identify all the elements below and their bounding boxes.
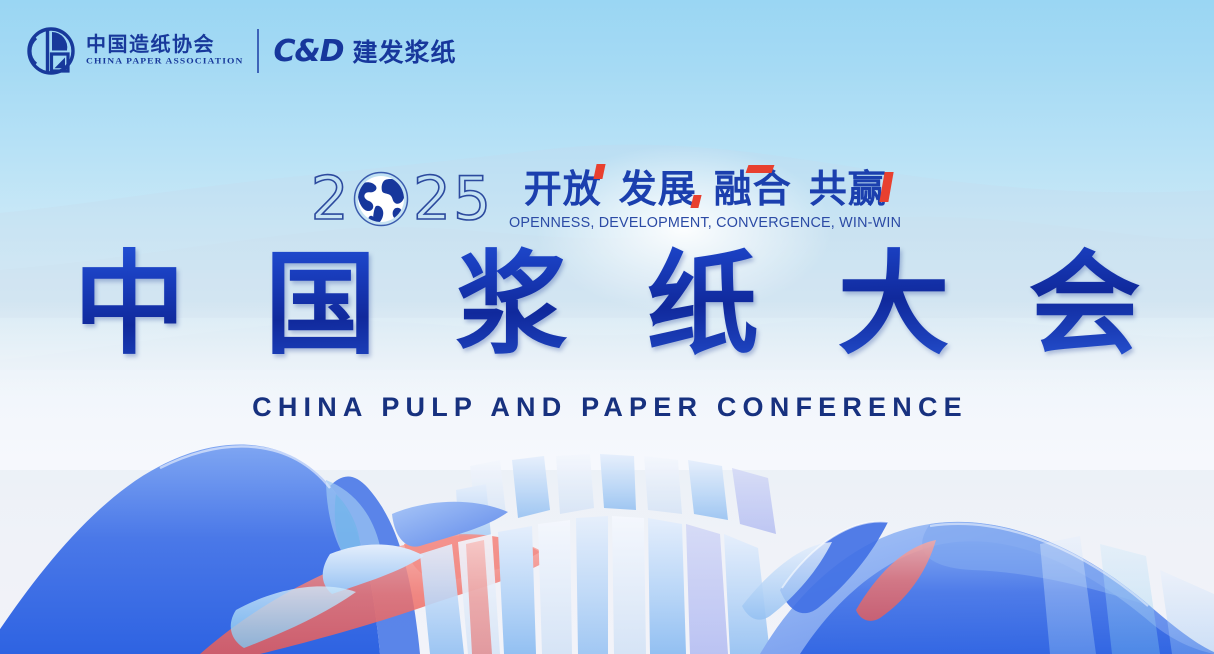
red-accent-3-icon: [745, 165, 774, 173]
year-2025-block: 2 2 5: [311, 168, 492, 230]
year-digit-5: 5: [453, 170, 491, 228]
slogan-word-2-text: 发展: [619, 167, 697, 211]
year-and-slogan-row: 2 2 5 开放: [0, 168, 1214, 231]
3d-ribbon-waves-icon: [0, 394, 1214, 654]
year-digit-2b: 2: [413, 170, 451, 228]
slogan-word-3-text: 融合: [714, 167, 792, 211]
cd-pulp-paper-logo[interactable]: C&D 建发浆纸: [273, 33, 456, 69]
page-subtitle: CHINA PULP AND PAPER CONFERENCE: [0, 392, 1214, 423]
slogan-word-4: 共赢: [809, 168, 887, 210]
cpa-text-block: 中国造纸协会 CHINA PAPER ASSOCIATION: [86, 34, 243, 68]
cpa-name-cn: 中国造纸协会: [86, 34, 243, 54]
cpa-name-en: CHINA PAPER ASSOCIATION: [86, 58, 243, 67]
conference-banner: 中国造纸协会 CHINA PAPER ASSOCIATION C&D 建发浆纸 …: [0, 0, 1214, 654]
globe-americas-icon: [352, 170, 410, 228]
slogan-word-1-text: 开放: [524, 167, 602, 211]
cd-name-cn: 建发浆纸: [353, 33, 457, 69]
vertical-divider-icon: [257, 29, 259, 73]
year-digit-2: 2: [311, 170, 349, 228]
red-accent-1-icon: [593, 164, 605, 179]
slogan-english: OPENNESS, DEVELOPMENT, CONVERGENCE, WIN-…: [509, 215, 901, 231]
slogan-word-4-text: 共赢: [809, 167, 887, 211]
cpa-circle-emblem-icon: [26, 26, 76, 76]
slogan-word-2: 发展: [619, 168, 697, 210]
slogan-word-1: 开放: [524, 168, 602, 210]
page-title: 中 国 浆 纸 大 会: [0, 243, 1214, 367]
slogan-word-3: 融合: [714, 168, 792, 210]
logo-bar: 中国造纸协会 CHINA PAPER ASSOCIATION C&D 建发浆纸: [26, 26, 457, 76]
china-paper-association-logo[interactable]: 中国造纸协会 CHINA PAPER ASSOCIATION: [26, 26, 243, 76]
cd-mark-text: C&D: [273, 34, 343, 69]
slogan-chinese: 开放 发展 融合 共赢: [524, 168, 887, 210]
slogan-block: 开放 发展 融合 共赢 OPENNESS, DEVELOPMENT, CONVE…: [507, 168, 903, 231]
